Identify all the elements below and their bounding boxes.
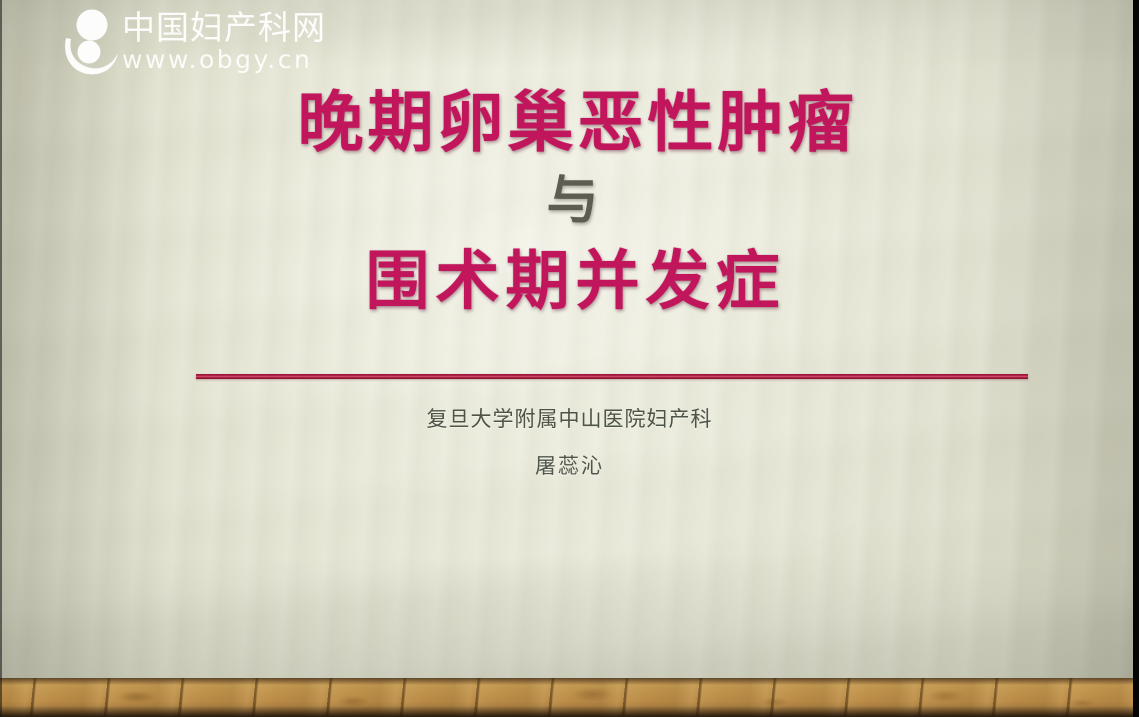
slide-title-block: 晚期卵巢恶性肿瘤 与 围术期并发症 xyxy=(0,84,1139,322)
presenter-block: 复旦大学附属中山医院妇产科 屠蕊沁 xyxy=(0,392,1139,486)
frame-right-edge xyxy=(1133,0,1139,717)
title-divider-rule xyxy=(196,374,1028,379)
frame-left-edge xyxy=(0,0,2,717)
watermark-site-name: 中国妇产科网 xyxy=(122,10,337,46)
slide-title-line-1: 晚期卵巢恶性肿瘤 xyxy=(0,84,1139,160)
floor-top-shadow xyxy=(0,678,1139,685)
presentation-slide-frame: 中国妇产科网 www.obgy.cn 晚期卵巢恶性肿瘤 与 围术期并发症 复旦大… xyxy=(0,0,1139,717)
wooden-floor xyxy=(0,678,1139,717)
mother-and-baby-logo-icon xyxy=(52,8,122,80)
watermark-text-group: 中国妇产科网 www.obgy.cn xyxy=(122,10,337,73)
watermark-url: www.obgy.cn xyxy=(122,46,337,73)
floor-bottom-shadow xyxy=(0,706,1139,717)
site-watermark: 中国妇产科网 www.obgy.cn xyxy=(52,6,342,84)
slide-title-conjunction: 与 xyxy=(0,160,1139,242)
slide-title-line-2: 围术期并发症 xyxy=(0,242,1139,322)
presenter-affiliation: 复旦大学附属中山医院妇产科 xyxy=(0,392,1139,446)
presenter-name: 屠蕊沁 xyxy=(0,446,1139,486)
